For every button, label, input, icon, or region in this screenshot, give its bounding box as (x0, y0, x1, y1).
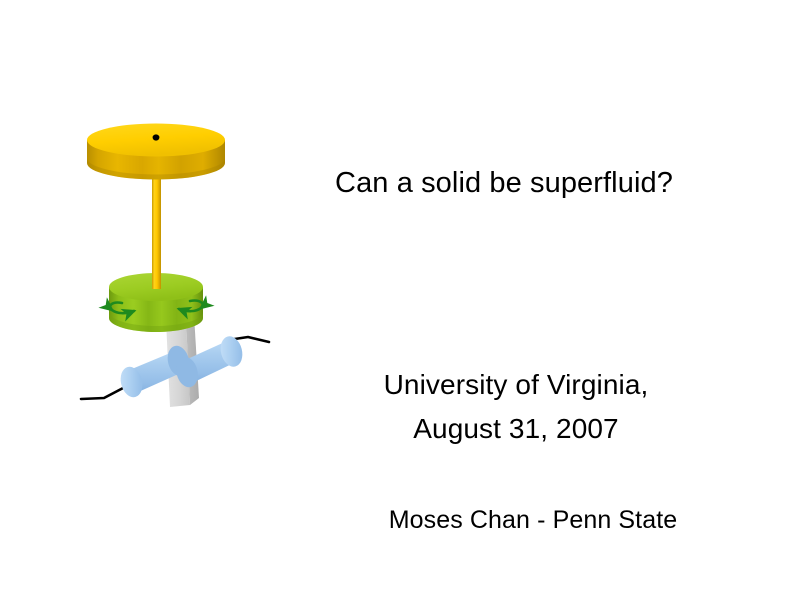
slide-title: Can a solid be superfluid? (0, 166, 792, 200)
venue-location: University of Virginia, (256, 363, 776, 407)
torsional-oscillator-svg (70, 115, 280, 425)
center-hole-icon (153, 134, 160, 140)
venue-date: August 31, 2007 (256, 407, 776, 451)
author-affiliation: Moses Chan - Penn State (256, 505, 776, 535)
torsional-oscillator-figure (70, 115, 280, 425)
venue-block: University of Virginia, August 31, 2007 (256, 363, 776, 451)
left-lead-wire (81, 387, 125, 399)
slide-canvas: Can a solid be superfluid? University of… (0, 0, 792, 612)
